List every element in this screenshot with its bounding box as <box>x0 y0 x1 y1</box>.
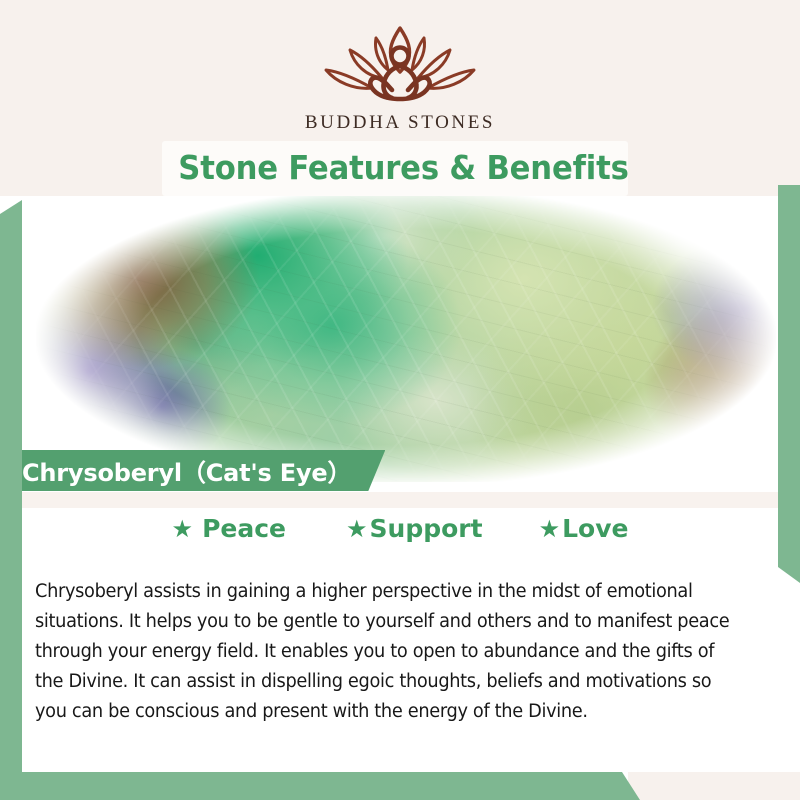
stone-info-card: BUDDHA STONES Chrysoberyl（Cat's Eye） Sto… <box>0 0 800 800</box>
frame-edge-left <box>0 200 22 784</box>
page-title: Stone Features & Benefits <box>178 141 611 196</box>
lotus-meditation-figure-icon <box>314 16 486 108</box>
brand-logo: BUDDHA STONES <box>0 16 800 134</box>
content-panel: ★ Peace ★ Support ★ Love Chrysoberyl ass… <box>0 492 800 800</box>
frame-edge-bottom <box>0 772 640 800</box>
star-icon: ★ <box>539 517 561 541</box>
stone-facet-texture <box>36 196 776 482</box>
benefit-tag-love: ★ Love <box>539 514 629 543</box>
page-title-plate: Stone Features & Benefits <box>162 141 628 196</box>
benefit-tag-label: Love <box>562 514 628 543</box>
bottom-right-beige-corner <box>628 772 800 800</box>
star-icon: ★ <box>172 517 194 541</box>
frame-edge-right <box>778 185 800 583</box>
benefit-tag-list: ★ Peace ★ Support ★ Love <box>0 514 800 543</box>
brand-name: BUDDHA STONES <box>0 112 800 134</box>
stone-name-banner: Chrysoberyl（Cat's Eye） <box>0 450 385 491</box>
stone-name-label: Chrysoberyl（Cat's Eye） <box>22 453 351 488</box>
benefit-tag-label: Support <box>370 514 483 543</box>
content-top-tint <box>0 492 800 508</box>
star-icon: ★ <box>346 517 368 541</box>
benefit-tag-peace: ★ Peace <box>172 514 286 543</box>
stone-description: Chrysoberyl assists in gaining a higher … <box>35 577 736 727</box>
benefit-tag-support: ★ Support <box>346 514 483 543</box>
stone-photo <box>0 196 800 492</box>
benefit-tag-label: Peace <box>202 514 286 543</box>
